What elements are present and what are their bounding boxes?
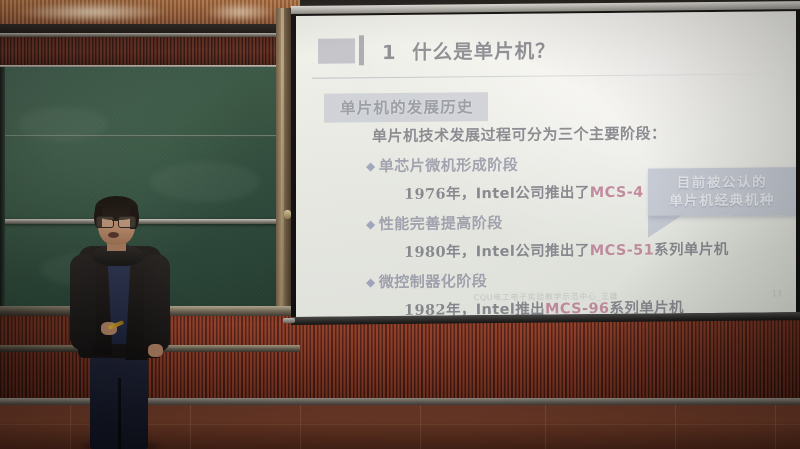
- presenter-left-arm: [70, 254, 96, 350]
- upper-wall-gap: [0, 24, 300, 33]
- stage-2-mid: 公司推出了: [515, 242, 590, 260]
- stage-detail-2: 1980年，Intel公司推出了MCS-51系列单片机: [404, 237, 796, 262]
- chalk-smudge: [18, 107, 108, 141]
- ceiling-light-glow-left: [18, 2, 168, 22]
- ceiling-light-glow-right: [205, 2, 275, 22]
- title-number: 1: [382, 40, 397, 63]
- lead-line: 单片机技术发展过程可分为三个主要阶段：: [372, 121, 796, 146]
- callout-line-1: 目前被公认的: [677, 173, 768, 192]
- upper-ribbed-wood-panel: [0, 37, 300, 67]
- diamond-bullet-icon: ◆: [366, 218, 376, 230]
- slide-body: 单片机技术发展过程可分为三个主要阶段： ◆ 单芯片微机形成阶段 1976年，In…: [296, 121, 796, 317]
- presenter-leg-separation: [118, 378, 121, 449]
- stage-1-chip: MCS-4: [590, 185, 644, 202]
- callout-pointer: [648, 215, 682, 237]
- projection-screen: 1 什么是单片机？ 单片机的发展历史 单片机技术发展过程可分为三个主要阶段： ◆…: [291, 6, 800, 328]
- title-divider: [312, 73, 782, 79]
- stage-1-year: 1976年，: [404, 185, 476, 203]
- presentation-slide: 1 什么是单片机？ 单片机的发展历史 单片机技术发展过程可分为三个主要阶段： ◆…: [296, 11, 796, 317]
- screen-frame: 1 什么是单片机？ 单片机的发展历史 单片机技术发展过程可分为三个主要阶段： ◆…: [291, 9, 800, 319]
- presenter-figure: [60, 196, 180, 449]
- stage-2-chip: MCS-51: [590, 243, 654, 260]
- slide-title-row: 1 什么是单片机？: [318, 33, 556, 65]
- callout-line-2: 单片机经典机种: [669, 191, 775, 210]
- callout-box: 目前被公认的 单片机经典机种: [648, 167, 796, 216]
- page-title: 1 什么是单片机？: [382, 34, 556, 65]
- subtitle-band: 单片机的发展历史: [324, 92, 488, 123]
- presenter-mouth: [108, 232, 119, 238]
- stage-1-mid: 公司推出了: [515, 184, 590, 202]
- chalkboard-frame-post: [276, 8, 292, 308]
- glasses-icon: [96, 216, 137, 226]
- stage-2-year: 1980年，: [404, 243, 476, 261]
- stage-2-suffix: 系列单片机: [654, 241, 729, 259]
- stage-heading-3: ◆ 微控制器化阶段: [366, 267, 796, 292]
- glasses-left-lens: [96, 216, 114, 228]
- diamond-bullet-icon: ◆: [366, 160, 376, 172]
- frame-post-knob: [284, 210, 291, 219]
- diamond-bullet-icon: ◆: [366, 276, 376, 288]
- presenter-right-hand: [148, 344, 163, 357]
- title-decoration-block: [318, 38, 355, 63]
- classroom-photo: 1 什么是单片机？ 单片机的发展历史 单片机技术发展过程可分为三个主要阶段： ◆…: [0, 0, 800, 449]
- stage-heading-1-label: 单芯片微机形成阶段: [379, 154, 519, 176]
- frame-post-highlight: [281, 8, 284, 308]
- stage-2-company: Intel: [476, 244, 515, 260]
- stage-heading-3-label: 微控制器化阶段: [379, 270, 488, 292]
- subtitle-label: 单片机的发展历史: [340, 98, 474, 117]
- glasses-right-lens: [118, 216, 136, 228]
- title-decoration-bar: [359, 35, 364, 65]
- title-label: 什么是单片机？: [412, 39, 556, 63]
- chalkboard-left-edge: [0, 67, 5, 309]
- slide-page-number: 13: [772, 289, 782, 298]
- screen-hook: [283, 318, 295, 323]
- screen-surface: 1 什么是单片机？ 单片机的发展历史 单片机技术发展过程可分为三个主要阶段： ◆…: [296, 11, 796, 317]
- stage-1-company: Intel: [476, 186, 515, 202]
- stage-heading-2-label: 性能完善提高阶段: [379, 212, 503, 234]
- presenter-right-arm: [144, 254, 170, 352]
